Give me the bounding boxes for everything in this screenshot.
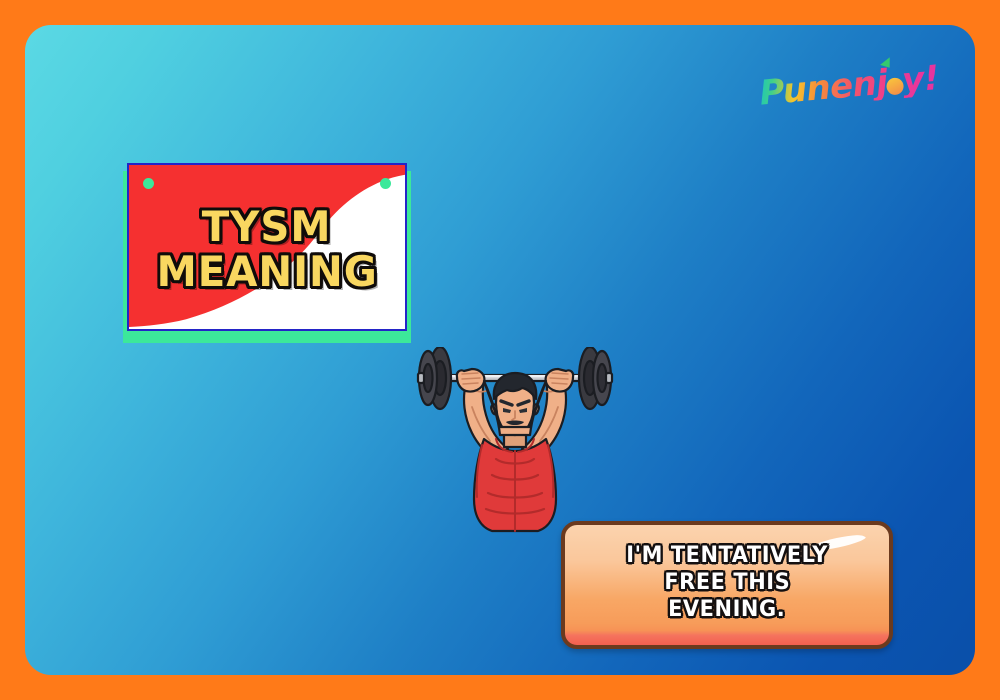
brand-logo-text-part1: Punenj bbox=[758, 63, 889, 114]
poster-canvas: Punenjy! TYSM MEANING bbox=[0, 0, 1000, 700]
brand-logo[interactable]: Punenjy! bbox=[758, 61, 940, 111]
banner-title-line-2: MEANING bbox=[156, 251, 377, 294]
title-banner: TYSM MEANING bbox=[105, 153, 415, 348]
brand-logo-text-part2: y! bbox=[901, 58, 941, 101]
caption-line-2: FREE THIS bbox=[664, 571, 790, 595]
poster-panel: Punenjy! TYSM MEANING bbox=[25, 25, 975, 675]
weightlifter-illustration bbox=[400, 347, 630, 537]
caption-box: I'M TENTATIVELY FREE THIS EVENING. bbox=[561, 521, 893, 649]
banner-card: TYSM MEANING bbox=[127, 163, 407, 331]
banner-title-line-1: TYSM bbox=[202, 206, 332, 249]
caption-line-3: EVENING. bbox=[668, 598, 785, 622]
caption-line-1: I'M TENTATIVELY bbox=[626, 544, 828, 568]
banner-text-block: TYSM MEANING bbox=[129, 165, 405, 329]
caption-text-block: I'M TENTATIVELY FREE THIS EVENING. bbox=[565, 525, 889, 645]
